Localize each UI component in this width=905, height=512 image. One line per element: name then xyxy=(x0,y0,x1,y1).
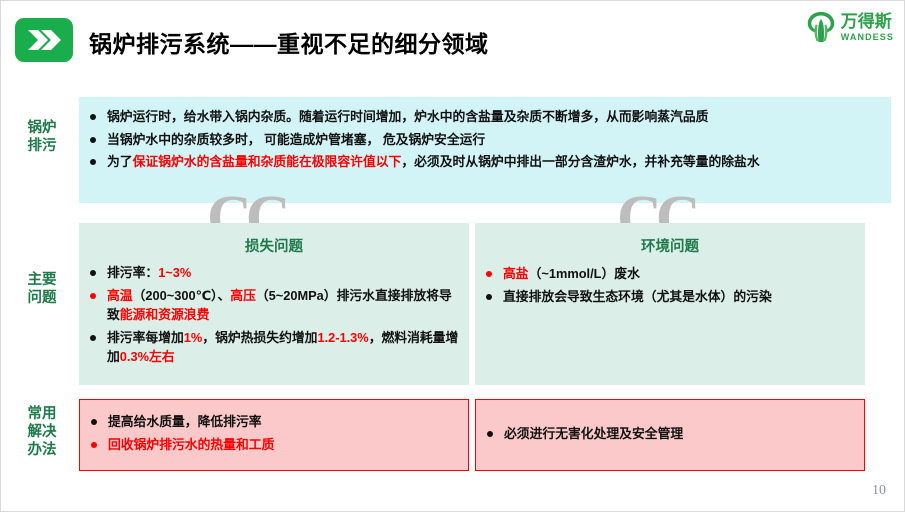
panel-boiler-blowdown: 锅炉运行时，给水带入锅内杂质。随着运行时间增加，炉水中的含盐量及杂质不断增多，从… xyxy=(79,97,891,203)
slide-header: 锅炉排污系统——重视不足的细分领域 万得斯 WANDESS xyxy=(1,1,905,81)
list-item: 当锅炉水中的杂质较多时， 可能造成炉管堵塞， 危及锅炉安全运行 xyxy=(85,130,879,150)
panel-solutions-right: 必须进行无害化处理及安全管理 xyxy=(475,399,865,471)
panel-environment-problems: 环境问题 高盐（~1mmol/L）废水 直接排放会导致生态环境（尤其是水体）的污… xyxy=(475,223,865,385)
list-item: 提高给水质量，降低排污率 xyxy=(86,412,458,432)
panel-loss-problems: 损失问题 排污率：1~3% 高温（200~300℃）、高压（5~20MPa）排污… xyxy=(79,223,469,385)
panel-title-loss-problems: 损失问题 xyxy=(79,235,469,256)
list-item: 高盐（~1mmol/L）废水 xyxy=(481,264,855,284)
bullet-list-solutions-left: 提高给水质量，降低排污率 回收锅炉排污水的热量和工质 xyxy=(86,412,458,454)
list-item: 回收锅炉排污水的热量和工质 xyxy=(86,435,458,455)
logo-wordmark: 万得斯 WANDESS xyxy=(841,13,894,42)
bullet-list-environment-problems: 高盐（~1mmol/L）废水 直接排放会导致生态环境（尤其是水体）的污染 xyxy=(481,264,855,306)
bullet-list-loss-problems: 排污率：1~3% 高温（200~300℃）、高压（5~20MPa）排污水直接排放… xyxy=(85,263,459,367)
bullet-list-solutions-right: 必须进行无害化处理及安全管理 xyxy=(482,424,854,444)
logo-text-cn: 万得斯 xyxy=(841,13,894,30)
panel-title-environment-problems: 环境问题 xyxy=(475,235,865,256)
row-label-common-solutions: 常用 解决 办法 xyxy=(11,405,73,459)
list-item: 为了保证锅炉水的含盐量和杂质能在极限容许值以下，必须及时从锅炉中排出一部分含渣炉… xyxy=(85,152,879,172)
list-item: 必须进行无害化处理及安全管理 xyxy=(482,424,854,444)
row-label-main-problems: 主要 问题 xyxy=(11,271,73,307)
panel-solutions-left: 提高给水质量，降低排污率 回收锅炉排污水的热量和工质 xyxy=(79,399,469,471)
list-item: 锅炉运行时，给水带入锅内杂质。随着运行时间增加，炉水中的含盐量及杂质不断增多，从… xyxy=(85,107,879,127)
wandess-leaf-logo-icon xyxy=(806,11,836,43)
list-item: 排污率每增加1%，锅炉热损失约增加1.2-1.3%，燃料消耗量增加0.3%左右 xyxy=(85,328,459,367)
bullet-list-boiler-blowdown: 锅炉运行时，给水带入锅内杂质。随着运行时间增加，炉水中的含盐量及杂质不断增多，从… xyxy=(85,107,879,172)
list-item: 高温（200~300℃）、高压（5~20MPa）排污水直接排放将导致能源和资源浪… xyxy=(85,286,459,325)
brand-logo: 万得斯 WANDESS xyxy=(806,11,894,43)
slide-canvas: 锅炉排污系统——重视不足的细分领域 万得斯 WANDESS 锅炉 排污 锅炉运行… xyxy=(0,0,905,512)
list-item: 直接排放会导致生态环境（尤其是水体）的污染 xyxy=(481,287,855,307)
double-chevron-right-icon xyxy=(15,18,73,62)
page-title: 锅炉排污系统——重视不足的细分领域 xyxy=(89,25,489,59)
list-item: 排污率：1~3% xyxy=(85,263,459,283)
page-number: 10 xyxy=(872,483,886,499)
logo-text-en: WANDESS xyxy=(841,33,894,42)
row-label-boiler-blowdown: 锅炉 排污 xyxy=(11,119,73,155)
